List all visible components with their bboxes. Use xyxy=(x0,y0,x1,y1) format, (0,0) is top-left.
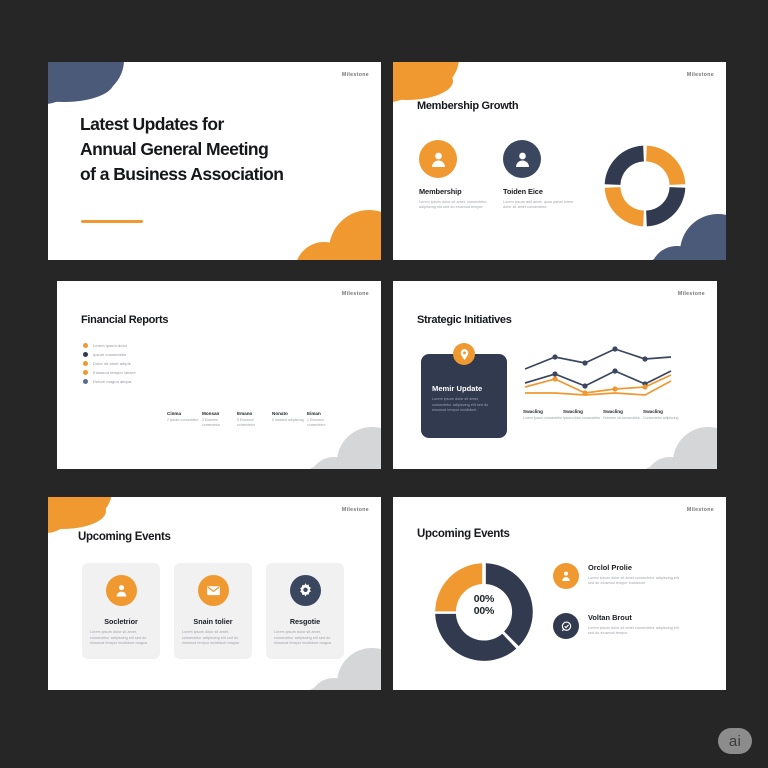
axis-label: Eiman 1 Eiusmod consectetur xyxy=(307,411,342,428)
slide-watermark: Milestone xyxy=(678,291,705,297)
feature-title: Orclol Prolie xyxy=(588,563,684,572)
legend-label: Ipsum consectetur xyxy=(93,352,127,357)
donut-segment-c xyxy=(605,187,644,226)
legend-swatch xyxy=(83,370,88,375)
slide-heading: Membership Growth xyxy=(417,100,518,112)
axis-label: Swacling Consectetur adipiscing xyxy=(643,409,683,421)
donut-segment-b xyxy=(646,187,685,226)
highlight-card[interactable]: Memir Update Lorem ipsum dolor sit amet,… xyxy=(421,354,507,438)
persona-toiden[interactable]: Toiden Eice Lorem ipsum adit amet, quos … xyxy=(503,140,577,211)
series-orange-upper xyxy=(525,375,671,393)
persona-name: Toiden Eice xyxy=(503,187,577,196)
axis-label: Nonato 5 Incidunt adipiscing xyxy=(272,411,307,428)
card-body: Lorem ipsum dolor sit amet, consectetur … xyxy=(432,397,496,414)
slide-deck-preview: Milestone Latest Updates for Annual Gene… xyxy=(0,0,768,768)
card-title: Memir Update xyxy=(432,384,496,393)
chart-legend[interactable]: Lorem ipsum dolor Ipsum consectetur Dolo… xyxy=(83,343,136,388)
list-item[interactable]: Socletrior Lorem ipsum dolor sit amet, c… xyxy=(82,563,160,659)
legend-swatch xyxy=(83,379,88,384)
legend-label: Dolore magna aliqua xyxy=(93,379,131,384)
slide-watermark: Milestone xyxy=(342,291,369,297)
slide-watermark: Milestone xyxy=(687,72,714,78)
donut-center-value-1: 00% xyxy=(423,593,545,605)
list-item[interactable]: Orclol Prolie Lorem ipsum dolor sit amet… xyxy=(553,563,684,589)
slide-heading: Financial Reports xyxy=(81,314,168,326)
card-body: Lorem ipsum dolor sit amet, consectetur … xyxy=(90,630,152,647)
legend-item[interactable]: Dolor sit amet adipis xyxy=(83,361,136,366)
decorative-gray-cloud xyxy=(613,419,717,469)
slide-title[interactable]: Milestone Latest Updates for Annual Gene… xyxy=(48,62,381,260)
persona-body: Lorem ipsum dolor sit amet, consectetur … xyxy=(419,200,493,211)
feature-title: Voltan Brout xyxy=(588,613,684,622)
legend-label: Eiusmod tempor labore xyxy=(93,370,136,375)
axis-label-head: Eiman xyxy=(307,411,342,416)
accent-underline xyxy=(81,220,143,223)
donut-segment-navy-bottom xyxy=(435,614,516,661)
axis-label-sub: Ipsum dolor consectetur xyxy=(563,416,603,421)
legend-swatch xyxy=(83,352,88,357)
persona-body: Lorem ipsum adit amet, quos pariat lorem… xyxy=(503,200,577,211)
legend-label: Dolor sit amet adipis xyxy=(93,361,131,366)
card-title: Resgotie xyxy=(290,617,320,626)
bar-chart[interactable] xyxy=(171,317,324,405)
axis-label: Swacling Dolorem sit consectetur xyxy=(603,409,643,421)
series-navy-lower xyxy=(525,371,671,386)
title-line-2: Annual General Meeting xyxy=(80,137,268,162)
card-body: Lorem ipsum dolor sit amet, consectetur … xyxy=(182,630,244,647)
axis-label: Emano 5 Eiusmod consectetur xyxy=(237,411,272,428)
user-icon xyxy=(553,563,579,589)
axis-label-sub: Dolorem sit consectetur xyxy=(603,416,643,421)
slide-membership-growth[interactable]: Milestone Membership Growth Membership L… xyxy=(393,62,726,260)
legend-item[interactable]: Dolore magna aliqua xyxy=(83,379,136,384)
list-item[interactable]: Snain tolier Lorem ipsum dolor sit amet,… xyxy=(174,563,252,659)
axis-label-head: Cinma xyxy=(167,411,202,416)
axis-label-head: Swacling xyxy=(643,409,683,414)
persona-membership[interactable]: Membership Lorem ipsum dolor sit amet, c… xyxy=(419,140,493,211)
ai-badge[interactable]: ai xyxy=(718,728,752,754)
legend-item[interactable]: Ipsum consectetur xyxy=(83,352,136,357)
axis-label-sub: 5 Incidunt adipiscing xyxy=(272,418,307,423)
gear-icon xyxy=(290,575,321,606)
slide-strategic-initiatives[interactable]: Milestone Strategic Initiatives Memir Up… xyxy=(393,281,717,469)
axis-label: Monsan 3 Dolorem consectetur xyxy=(202,411,237,428)
axis-label-head: Swacling xyxy=(523,409,563,414)
axis-label-sub: 2 Ipsum consectetur xyxy=(167,418,202,423)
line-chart-x-labels: Swacling Lorem ipsum consectetur Swaclin… xyxy=(523,409,683,421)
legend-item[interactable]: Lorem ipsum dolor xyxy=(83,343,136,348)
slide-upcoming-events-donut[interactable]: Milestone Upcoming Events 00% 00% xyxy=(393,497,726,690)
donut-segment-a xyxy=(646,146,685,185)
list-item[interactable]: Resgotie Lorem ipsum dolor sit amet, con… xyxy=(266,563,344,659)
slide-watermark: Milestone xyxy=(687,507,714,513)
series-navy-upper xyxy=(525,349,671,369)
axis-label-head: Swacling xyxy=(603,409,643,414)
slide-heading: Upcoming Events xyxy=(78,531,171,543)
map-pin-icon xyxy=(453,343,475,365)
title-line-3: of a Business Association xyxy=(80,162,283,187)
legend-item[interactable]: Eiusmod tempor labore xyxy=(83,370,136,375)
bar-chart-x-labels: Cinma 2 Ipsum consectetur Monsan 3 Dolor… xyxy=(167,411,342,428)
axis-label: Swacling Lorem ipsum consectetur xyxy=(523,409,563,421)
title-line-1: Latest Updates for xyxy=(80,112,224,137)
card-title: Socletrior xyxy=(104,617,138,626)
slide-upcoming-events-cards[interactable]: Milestone Upcoming Events Socletrior Lor… xyxy=(48,497,381,690)
decorative-navy-cloud xyxy=(48,62,144,116)
donut-center-value-2: 00% xyxy=(423,605,545,617)
axis-label-head: Monsan xyxy=(202,411,237,416)
user-icon xyxy=(419,140,457,178)
decorative-orange-cloud xyxy=(259,204,381,260)
user-icon xyxy=(106,575,137,606)
legend-label: Lorem ipsum dolor xyxy=(93,343,127,348)
legend-swatch xyxy=(83,343,88,348)
envelope-icon xyxy=(198,575,229,606)
slide-heading: Strategic Initiatives xyxy=(417,314,512,326)
line-chart[interactable] xyxy=(523,343,673,410)
series-orange-lower xyxy=(525,381,671,395)
slide-heading: Upcoming Events xyxy=(417,528,510,540)
slide-financial-reports[interactable]: Milestone Financial Reports Lorem ipsum … xyxy=(57,281,381,469)
donut-segment-d xyxy=(605,146,644,185)
axis-label-sub: 3 Dolorem consectetur xyxy=(202,418,237,429)
list-item[interactable]: Voltan Brout Lorem ipsum dolor sit amet … xyxy=(553,613,684,639)
feature-body: Lorem ipsum dolor sit amet consectetur a… xyxy=(588,626,684,637)
legend-swatch xyxy=(83,361,88,366)
user-icon xyxy=(503,140,541,178)
slide-watermark: Milestone xyxy=(342,72,369,78)
donut-center-values: 00% 00% xyxy=(423,593,545,618)
axis-label-sub: Lorem ipsum consectetur xyxy=(523,416,563,421)
check-circle-icon xyxy=(553,613,579,639)
axis-label-sub: 1 Eiusmod consectetur xyxy=(307,418,342,429)
axis-label: Cinma 2 Ipsum consectetur xyxy=(167,411,202,428)
persona-name: Membership xyxy=(419,187,493,196)
feature-body: Lorem ipsum dolor sit amet consectetur a… xyxy=(588,576,684,587)
card-body: Lorem ipsum dolor sit amet, consectetur … xyxy=(274,630,336,647)
membership-donut-chart[interactable] xyxy=(589,130,701,247)
events-donut-chart[interactable]: 00% 00% xyxy=(423,551,545,678)
axis-label-head: Nonato xyxy=(272,411,307,416)
axis-label: Swacling Ipsum dolor consectetur xyxy=(563,409,603,421)
axis-label-head: Swacling xyxy=(563,409,603,414)
axis-label-head: Emano xyxy=(237,411,272,416)
axis-label-sub: Consectetur adipiscing xyxy=(643,416,683,421)
card-title: Snain tolier xyxy=(193,617,232,626)
axis-label-sub: 5 Eiusmod consectetur xyxy=(237,418,272,429)
slide-watermark: Milestone xyxy=(342,507,369,513)
